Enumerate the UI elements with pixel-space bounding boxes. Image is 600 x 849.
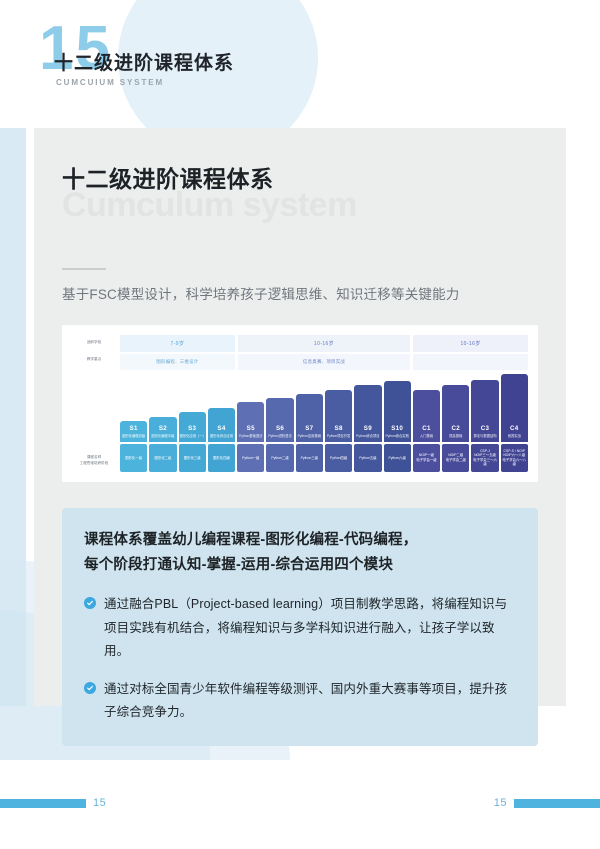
chart-bar-description: 图形化编程初级 <box>121 434 146 438</box>
chart-bar: C2提高基础 <box>442 385 469 442</box>
chart-footer-cells: 图形化一级图形化二级图形化三级图形化四级Python一级Python二级Pyth… <box>120 444 528 472</box>
chart-bar: S7Python应用基础 <box>296 394 323 442</box>
chart-segment-headers: 7-9岁10-16岁10-16岁 <box>120 335 528 354</box>
callout-bullet: 通过融合PBL（Project-based learning）项目制教学思路，将… <box>84 593 516 662</box>
chart-row-labels: 适龄学段 教学重点 课程名称 工程思维培养阶段 <box>70 335 118 472</box>
row-label-age: 适龄学段 <box>70 335 118 350</box>
chart-bar: S9Python综合项目 <box>354 385 381 442</box>
chart-bar: S1图形化编程初级 <box>120 421 147 442</box>
title-divider <box>62 268 106 270</box>
chart-footer-cell: 图形化一级 <box>120 444 147 472</box>
chart-bars: S1图形化编程初级S2图形化编程中级S3图形化应用（一）S4图形化综合应用S5P… <box>120 374 528 442</box>
chart-bar-description: 图形化应用（一） <box>179 434 206 438</box>
page-footer: 15 15 <box>0 797 600 811</box>
highlight-callout: 课程体系覆盖幼儿编程课程-图形化编程-代码编程， 每个阶段打通认知-掌握-运用-… <box>62 508 538 746</box>
chart-bar: C4竞赛实战 <box>501 374 528 442</box>
logo-title: 十二级进阶课程体系 <box>54 22 234 75</box>
check-circle-icon <box>84 597 96 609</box>
chart-footer-cell: Python一级 <box>237 444 264 472</box>
footer-right: 15 <box>494 797 600 809</box>
chart-bar: S10Python综合实践 <box>384 381 411 442</box>
chart-bar-description: Python综合项目 <box>355 434 380 438</box>
chart-footer-cell: Python六级 <box>384 444 411 472</box>
callout-heading-line-2: 每个阶段打通认知-掌握-运用-综合运用四个模块 <box>84 553 516 578</box>
chart-bar-code: S9 <box>364 425 372 432</box>
page-header: 15 十二级进阶课程体系 CUMCUIUM SYSTEM <box>0 0 600 128</box>
page-title: 十二级进阶课程体系 <box>62 160 538 194</box>
chart-footer-cell: Python三级 <box>296 444 323 472</box>
chart-bar-description: Python综合实践 <box>384 434 409 438</box>
callout-bullet-text: 通过对标全国青少年软件编程等级测评、国内外重大赛事等项目，提升孩子综合竞争力。 <box>104 678 516 724</box>
chart-bar-description: Python应用基础 <box>297 434 322 438</box>
chart-bar-code: S5 <box>247 425 255 432</box>
callout-heading-line-1: 课程体系覆盖幼儿编程课程-图形化编程-代码编程， <box>84 528 516 553</box>
chart-footer-cell: CSP-J NOIP三～五级 电子学会三～六级 <box>471 444 498 472</box>
chart-bar-description: 算法与数据结构 <box>472 434 497 438</box>
chart-segment-age-1: 7-9岁 <box>120 335 235 352</box>
course-level-chart: 适龄学段 教学重点 课程名称 工程思维培养阶段 7-9岁10-16岁10-16岁… <box>62 325 538 482</box>
chart-footer-cell: CSP-S / NOIP NOIP六～八级 电子学会六～八级 <box>501 444 528 472</box>
chart-bar: S4图形化综合应用 <box>208 408 235 442</box>
callout-bullet-list: 通过融合PBL（Project-based learning）项目制教学思路，将… <box>84 593 516 724</box>
chart-bar: S8Python项目开发 <box>325 390 352 442</box>
chart-footer-cell: Python二级 <box>266 444 293 472</box>
chart-bar-code: S2 <box>159 425 167 432</box>
chart-body: 7-9岁10-16岁10-16岁 图形编程、三维设计信息奥赛、项目实战 S1图形… <box>120 335 528 472</box>
check-circle-icon <box>84 682 96 694</box>
chart-bar-code: S6 <box>276 425 284 432</box>
chart-bar-code: C3 <box>481 425 490 432</box>
chart-bar: S5Python基础语法 <box>237 402 264 442</box>
chart-bar-description: Python项目开发 <box>326 434 351 438</box>
chart-bar-description: 提高基础 <box>448 434 463 438</box>
footer-bar-left <box>0 799 86 808</box>
chart-bar-code: S7 <box>305 425 313 432</box>
chart-bar: S3图形化应用（一） <box>179 412 206 442</box>
chart-segment-focus-3 <box>413 354 528 370</box>
chart-bar-description: 入门基础 <box>419 434 434 438</box>
chart-bar-code: C2 <box>451 425 460 432</box>
chart-footer-cell: 图形化四级 <box>208 444 235 472</box>
chart-segment-age-3: 10-16岁 <box>413 335 528 352</box>
page-number-right: 15 <box>494 797 507 809</box>
chart-bar-code: C4 <box>510 425 519 432</box>
page-subtitle: 基于FSC模型设计，科学培养孩子逻辑思维、知识迁移等关键能力 <box>62 283 538 303</box>
chart-bar-description: 图形化综合应用 <box>209 434 234 438</box>
chart-footer-cell: NOIP二级 电子学会二级 <box>442 444 469 472</box>
chart-bar: S6Python进阶语法 <box>266 398 293 442</box>
chart-bar-code: S4 <box>217 425 225 432</box>
row-label-levels: 课程名称 工程思维培养阶段 <box>70 450 118 472</box>
footer-left: 15 <box>0 797 106 809</box>
title-block: Cumculum system 十二级进阶课程体系 <box>62 160 538 246</box>
callout-bullet: 通过对标全国青少年软件编程等级测评、国内外重大赛事等项目，提升孩子综合竞争力。 <box>84 678 516 724</box>
chart-bar-description: 图形化编程中级 <box>150 434 175 438</box>
chart-bar-code: C1 <box>422 425 431 432</box>
callout-bullet-text: 通过融合PBL（Project-based learning）项目制教学思路，将… <box>104 593 516 662</box>
chart-segment-subheaders: 图形编程、三维设计信息奥赛、项目实战 <box>120 354 528 370</box>
chart-footer-cell: 图形化三级 <box>179 444 206 472</box>
chart-bar-code: S8 <box>335 425 343 432</box>
chart-bar-code: S3 <box>188 425 196 432</box>
chart-bar-description: Python基础语法 <box>238 434 263 438</box>
chart-bar: S2图形化编程中级 <box>149 417 176 443</box>
chart-footer-cell: Python四级 <box>325 444 352 472</box>
page-number-left: 15 <box>93 797 106 809</box>
row-label-focus: 教学重点 <box>70 352 118 367</box>
chart-segment-age-2: 10-16岁 <box>238 335 410 352</box>
callout-heading: 课程体系覆盖幼儿编程课程-图形化编程-代码编程， 每个阶段打通认知-掌握-运用-… <box>84 528 516 579</box>
chart-footer-cell: NOIP一级 电子学会一级 <box>413 444 440 472</box>
logo: 15 十二级进阶课程体系 CUMCUIUM SYSTEM <box>36 22 234 87</box>
chart-bar-description: 竞赛实战 <box>507 434 522 438</box>
content-card: Cumculum system 十二级进阶课程体系 基于FSC模型设计，科学培养… <box>34 128 566 706</box>
chart-bar-description: Python进阶语法 <box>267 434 292 438</box>
chart-segment-focus-2: 信息奥赛、项目实战 <box>238 354 410 370</box>
chart-bar: C3算法与数据结构 <box>471 380 498 442</box>
chart-segment-focus-1: 图形编程、三维设计 <box>120 354 235 370</box>
chart-bar-code: S1 <box>130 425 138 432</box>
footer-bar-right <box>514 799 600 808</box>
chart-footer-cell: Python五级 <box>354 444 381 472</box>
chart-bar-code: S10 <box>391 425 403 432</box>
chart-footer-cell: 图形化二级 <box>149 444 176 472</box>
chart-bar: C1入门基础 <box>413 390 440 442</box>
